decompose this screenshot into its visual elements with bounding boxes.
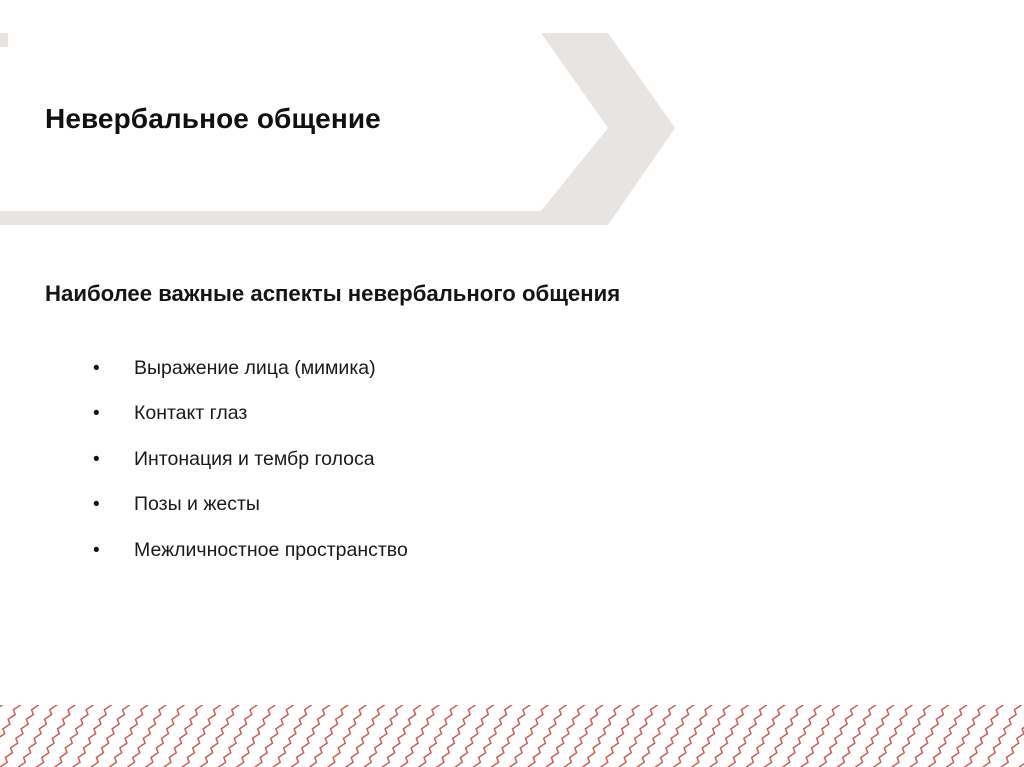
zigzag-line (146, 705, 184, 767)
list-item-label: Межличностное пространство (134, 539, 408, 562)
bottom-zigzag-decoration (0, 705, 1024, 767)
zigzag-line (273, 705, 311, 767)
page-title: Невербальное общение (45, 103, 381, 135)
slide-canvas: Невербальное общение Наиболее важные асп… (0, 0, 1024, 767)
zigzag-line (291, 705, 329, 767)
zigzag-line (419, 705, 457, 767)
zigzag-line (473, 705, 511, 767)
zigzag-line (655, 705, 693, 767)
zigzag-line (0, 705, 38, 767)
zigzag-line (546, 705, 584, 767)
banner-lower-band-shape (0, 128, 675, 225)
zigzag-line (983, 705, 1021, 767)
zigzag-line (746, 705, 784, 767)
zigzag-line (710, 705, 748, 767)
bullet-list: • Выражение лица (мимика) • Контакт глаз… (88, 357, 408, 584)
list-item: • Интонация и тембр голоса (88, 448, 408, 493)
bullet-point-icon: • (88, 448, 134, 471)
zigzag-line (765, 705, 803, 767)
list-item: • Межличностное пространство (88, 539, 408, 584)
zigzag-line (910, 705, 948, 767)
zigzag-line (783, 705, 821, 767)
banner-left-edge-bottom (0, 211, 8, 225)
zigzag-line (364, 705, 402, 767)
zigzag-line (637, 705, 675, 767)
list-item: • Выражение лица (мимика) (88, 357, 408, 402)
zigzag-line (583, 705, 621, 767)
zigzag-line (73, 705, 111, 767)
zigzag-line (18, 705, 56, 767)
zigzag-line (37, 705, 75, 767)
zigzag-line (91, 705, 129, 767)
zigzag-line (856, 705, 894, 767)
banner-left-edge-top (0, 33, 8, 47)
zigzag-line (564, 705, 602, 767)
zigzag-line (328, 705, 366, 767)
list-item-label: Интонация и тембр голоса (134, 448, 375, 471)
zigzag-line (382, 705, 420, 767)
zigzag-line (109, 705, 147, 767)
zigzag-line (692, 705, 730, 767)
zigzag-line (892, 705, 930, 767)
zigzag-line (219, 705, 257, 767)
bullet-point-icon: • (88, 493, 134, 516)
zigzag-line (947, 705, 985, 767)
list-item-label: Позы и жесты (134, 493, 260, 516)
bullet-point-icon: • (88, 539, 134, 562)
zigzag-line (510, 705, 548, 767)
zigzag-line (928, 705, 966, 767)
zigzag-line (619, 705, 657, 767)
zigzag-line (601, 705, 639, 767)
zigzag-lines-group (0, 705, 1024, 767)
zigzag-line (801, 705, 839, 767)
zigzag-line (455, 705, 493, 767)
zigzag-line (492, 705, 530, 767)
zigzag-line (874, 705, 912, 767)
zigzag-line (965, 705, 1003, 767)
list-item: • Позы и жесты (88, 493, 408, 538)
zigzag-line (728, 705, 766, 767)
zigzag-line (837, 705, 875, 767)
zigzag-line (674, 705, 712, 767)
zigzag-line (0, 705, 20, 767)
zigzag-line (237, 705, 275, 767)
zigzag-line (437, 705, 475, 767)
zigzag-line (164, 705, 202, 767)
list-item-label: Контакт глаз (134, 402, 247, 425)
zigzag-line (401, 705, 439, 767)
list-item: • Контакт глаз (88, 402, 408, 447)
zigzag-line (55, 705, 93, 767)
bullet-point-icon: • (88, 402, 134, 425)
zigzag-line (128, 705, 166, 767)
bullet-point-icon: • (88, 357, 134, 380)
zigzag-line (200, 705, 238, 767)
zigzag-line (255, 705, 293, 767)
list-item-label: Выражение лица (мимика) (134, 357, 376, 380)
zigzag-line (528, 705, 566, 767)
section-subtitle: Наиболее важные аспекты невербального об… (45, 281, 620, 307)
zigzag-line (1001, 705, 1024, 767)
zigzag-line (310, 705, 348, 767)
zigzag-line (182, 705, 220, 767)
zigzag-line (819, 705, 857, 767)
zigzag-line (346, 705, 384, 767)
